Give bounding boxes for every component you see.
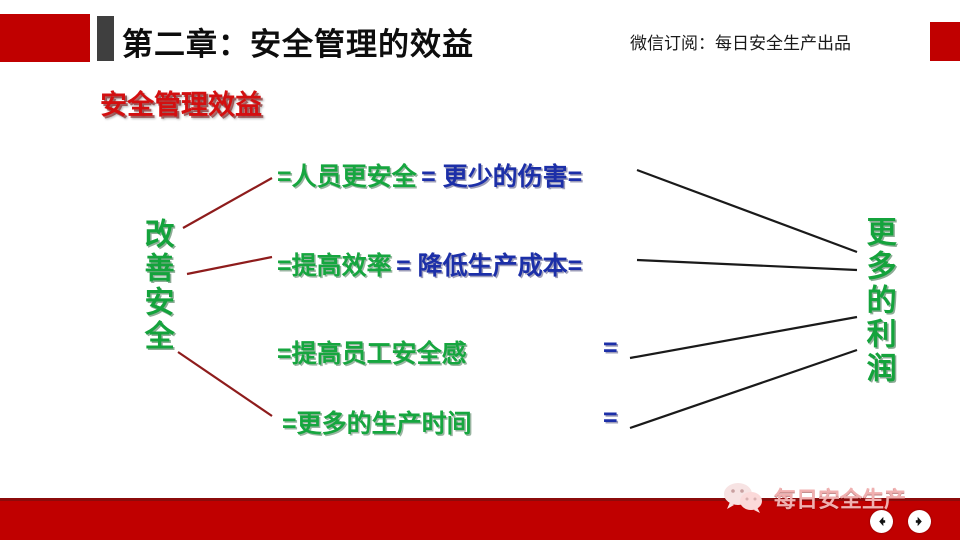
- diagram-row-3: =提高员工安全感: [277, 334, 467, 368]
- row-3-equals-mark: =: [603, 334, 618, 363]
- arrow-right-icon: [914, 516, 925, 527]
- footer-brand-text: 每日安全生产: [774, 482, 906, 514]
- row-1-green-text: =人员更安全: [277, 163, 417, 191]
- diagram-row-1: =人员更安全 = 更少的伤害=: [277, 157, 582, 191]
- nav-next-button[interactable]: [908, 510, 931, 533]
- nav-prev-button[interactable]: [870, 510, 893, 533]
- row-2-blue-text: = 降低生产成本=: [396, 252, 582, 280]
- diagram-right-label: 更多的利润: [862, 216, 893, 386]
- wechat-icon: [722, 482, 766, 514]
- diagram-row-2: =提高效率 = 降低生产成本=: [277, 246, 582, 280]
- row-1-blue-text: = 更少的伤害=: [421, 163, 582, 191]
- arrow-left-icon: [876, 516, 887, 527]
- row-2-green-text: =提高效率: [277, 252, 392, 280]
- benefit-diagram: 改善安全 更多的利润 =人员更安全 = 更少的伤害= =提高效率 = 降低生产成…: [0, 0, 960, 540]
- slide-canvas: 第二章：安全管理的效益 微信订阅：每日安全生产出品 安全管理效益 改善安全 更多…: [0, 0, 960, 540]
- row-3-green-text: =提高员工安全感: [277, 340, 467, 368]
- row-4-equals-mark: =: [603, 404, 618, 433]
- diagram-row-4: =更多的生产时间: [282, 404, 472, 438]
- row-4-green-text: =更多的生产时间: [282, 410, 472, 438]
- diagram-left-label: 改善安全: [140, 218, 171, 354]
